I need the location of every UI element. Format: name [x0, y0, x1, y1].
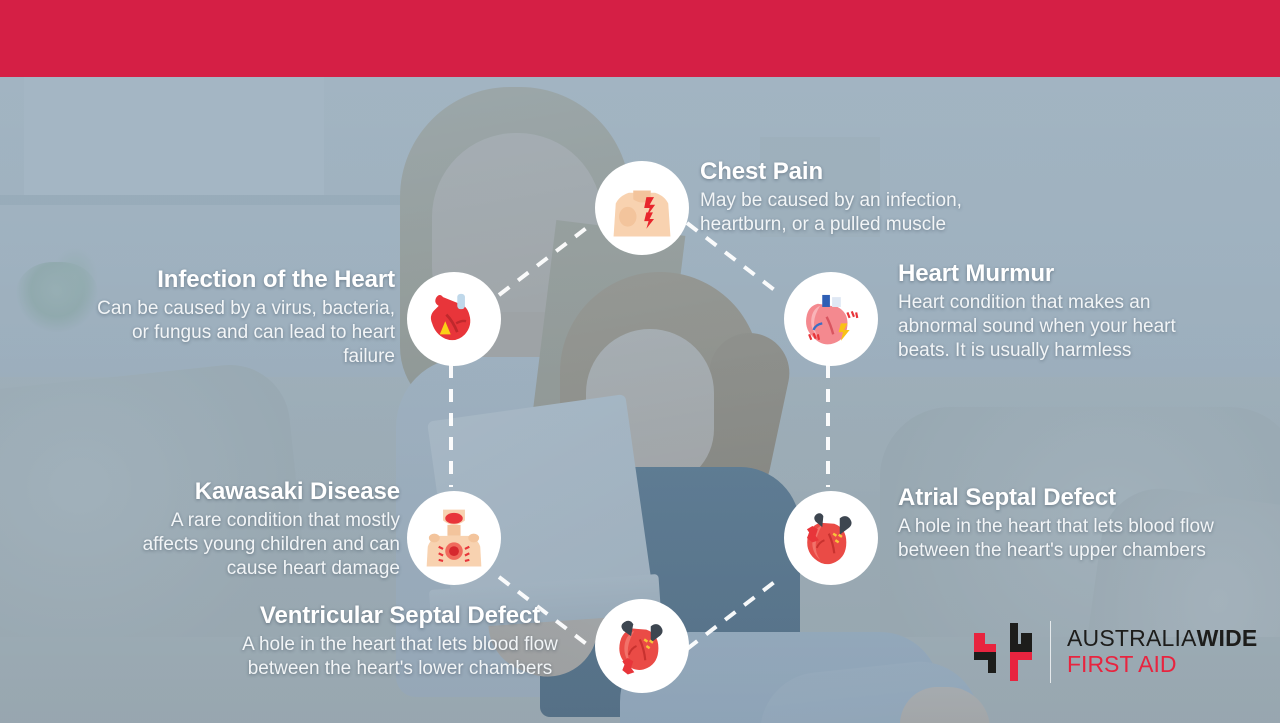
title-ventricular-septal-defect: Ventricular Septal Defect	[215, 602, 585, 630]
description-infection-of-the-heart: Can be caused by a virus, bacteria, or f…	[85, 297, 395, 370]
description-heart-murmur: Heart condition that makes an abnormal s…	[898, 291, 1228, 364]
description-chest-pain: May be caused by an infection, heartburn…	[700, 189, 1010, 238]
logo-australia: AUSTRALIA	[1067, 625, 1197, 651]
logo-wide: WIDE	[1197, 625, 1258, 651]
title-chest-pain: Chest Pain	[700, 158, 1010, 186]
text-block-kawasaki-disease: Kawasaki Disease A rare condition that m…	[110, 478, 400, 582]
description-ventricular-septal-defect: A hole in the heart that lets blood flow…	[215, 633, 585, 682]
node-circle-heart-murmur[interactable]	[784, 272, 878, 366]
description-atrial-septal-defect: A hole in the heart that lets blood flow…	[898, 515, 1228, 564]
logo-line-2: FIRST AID	[1067, 651, 1257, 677]
node-ring-atrial-septal-defect	[784, 491, 878, 585]
brand-logo[interactable]: AUSTRALIAWIDE FIRST AID	[972, 612, 1252, 692]
text-block-infection-of-the-heart: Infection of the Heart Can be caused by …	[85, 266, 395, 370]
node-circle-kawasaki-disease[interactable]	[407, 491, 501, 585]
header-band	[0, 0, 1280, 77]
node-circle-atrial-septal-defect[interactable]	[784, 491, 878, 585]
text-block-heart-murmur: Heart Murmur Heart condition that makes …	[898, 260, 1228, 364]
node-ring-ventricular-septal-defect	[595, 599, 689, 693]
description-kawasaki-disease: A rare condition that mostly affects you…	[110, 509, 400, 582]
node-circle-infection-of-the-heart[interactable]	[407, 272, 501, 366]
title-infection-of-the-heart: Infection of the Heart	[85, 266, 395, 294]
title-kawasaki-disease: Kawasaki Disease	[110, 478, 400, 506]
australia-wide-cross-icon	[972, 621, 1034, 683]
text-block-chest-pain: Chest Pain May be caused by an infection…	[700, 158, 1010, 237]
logo-divider	[1050, 621, 1051, 683]
text-block-ventricular-septal-defect: Ventricular Septal Defect A hole in the …	[215, 602, 585, 681]
node-ring-chest-pain	[595, 161, 689, 255]
node-ring-infection-of-the-heart	[407, 272, 501, 366]
logo-wordmark: AUSTRALIAWIDE FIRST AID	[1067, 626, 1257, 678]
title-heart-murmur: Heart Murmur	[898, 260, 1228, 288]
text-block-atrial-septal-defect: Atrial Septal Defect A hole in the heart…	[898, 484, 1228, 563]
node-circle-ventricular-septal-defect[interactable]	[595, 599, 689, 693]
node-circle-chest-pain[interactable]	[595, 161, 689, 255]
logo-line-1: AUSTRALIAWIDE	[1067, 626, 1257, 651]
node-ring-heart-murmur	[784, 272, 878, 366]
title-atrial-septal-defect: Atrial Septal Defect	[898, 484, 1228, 512]
infographic-root: COMMON HEART ISSUES FOR CHILDREN AND BAB…	[0, 0, 1280, 723]
node-ring-kawasaki-disease	[407, 491, 501, 585]
